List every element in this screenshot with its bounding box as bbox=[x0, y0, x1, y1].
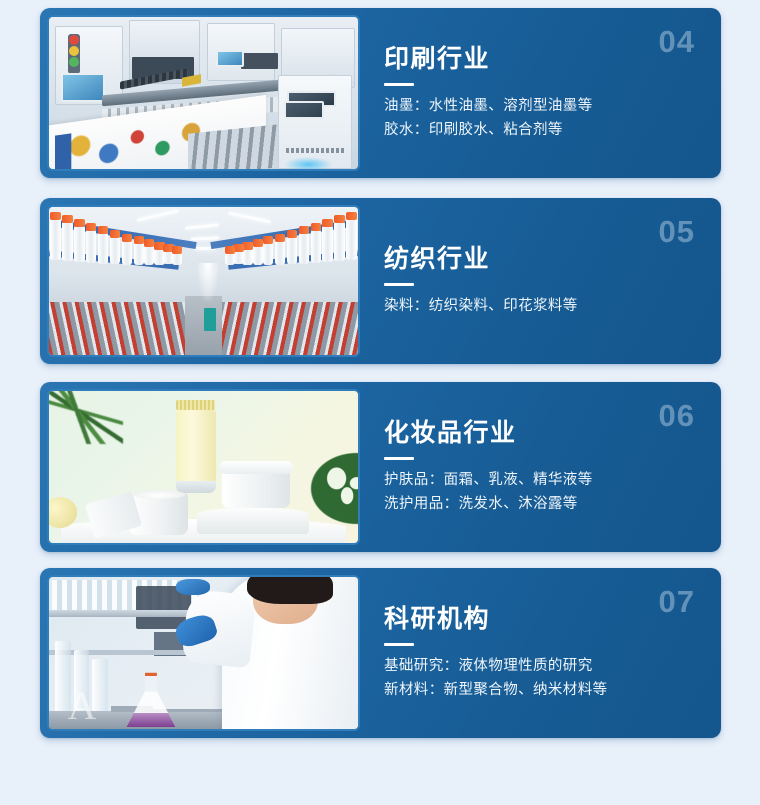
card-index-number: 04 bbox=[659, 24, 695, 60]
card-title: 印刷行业 bbox=[384, 44, 699, 74]
printing-press-illustration bbox=[49, 17, 358, 169]
cosmetics-products-photo bbox=[47, 389, 360, 545]
card-index-number: 06 bbox=[659, 398, 695, 434]
card-description-line: 新材料：新型聚合物、纳米材料等 bbox=[384, 679, 699, 702]
title-underline-divider bbox=[384, 457, 414, 460]
card-thumbnail-frame bbox=[40, 198, 360, 364]
card-description-line: 护肤品：面霜、乳液、精华液等 bbox=[384, 469, 699, 492]
title-underline-divider bbox=[384, 643, 414, 646]
industry-card-textile[interactable]: 05 纺织行业 染料：纺织染料、印花浆料等 bbox=[40, 198, 721, 364]
card-body: 04 印刷行业 油墨：水性油墨、溶剂型油墨等 胶水：印刷胶水、粘合剂等 bbox=[360, 8, 721, 178]
card-title: 纺织行业 bbox=[384, 244, 699, 274]
printing-press-photo bbox=[47, 15, 360, 171]
card-description-line: 胶水：印刷胶水、粘合剂等 bbox=[384, 119, 699, 142]
card-title: 化妆品行业 bbox=[384, 418, 699, 448]
card-body: 05 纺织行业 染料：纺织染料、印花浆料等 bbox=[360, 198, 721, 364]
card-description-line: 染料：纺织染料、印花浆料等 bbox=[384, 295, 699, 318]
card-thumbnail-frame bbox=[40, 8, 360, 178]
textile-spinning-mill-photo bbox=[47, 205, 360, 357]
card-index-number: 07 bbox=[659, 584, 695, 620]
card-title: 科研机构 bbox=[384, 604, 699, 634]
industry-card-printing[interactable]: 04 印刷行业 油墨：水性油墨、溶剂型油墨等 胶水：印刷胶水、粘合剂等 bbox=[40, 8, 721, 178]
card-index-number: 05 bbox=[659, 214, 695, 250]
card-description-line: 油墨：水性油墨、溶剂型油墨等 bbox=[384, 95, 699, 118]
textile-mill-illustration bbox=[49, 207, 358, 355]
title-underline-divider bbox=[384, 283, 414, 286]
card-thumbnail-frame: A bbox=[40, 568, 360, 738]
card-body: 07 科研机构 基础研究：液体物理性质的研究 新材料：新型聚合物、纳米材料等 bbox=[360, 568, 721, 738]
industry-application-list-page: 04 印刷行业 油墨：水性油墨、溶剂型油墨等 胶水：印刷胶水、粘合剂等 bbox=[0, 0, 760, 805]
cosmetics-illustration bbox=[49, 391, 358, 543]
card-body: 06 化妆品行业 护肤品：面霜、乳液、精华液等 洗护用品：洗发水、沐浴露等 bbox=[360, 382, 721, 552]
industry-card-research[interactable]: A 07 科研机构 基础研究：液体物理性质的研究 bbox=[40, 568, 721, 738]
card-description-line: 洗护用品：洗发水、沐浴露等 bbox=[384, 493, 699, 516]
laboratory-illustration: A bbox=[49, 577, 358, 729]
title-underline-divider bbox=[384, 83, 414, 86]
industry-card-cosmetics[interactable]: 06 化妆品行业 护肤品：面霜、乳液、精华液等 洗护用品：洗发水、沐浴露等 bbox=[40, 382, 721, 552]
card-thumbnail-frame bbox=[40, 382, 360, 552]
card-description-line: 基础研究：液体物理性质的研究 bbox=[384, 655, 699, 678]
laboratory-researcher-photo: A bbox=[47, 575, 360, 731]
